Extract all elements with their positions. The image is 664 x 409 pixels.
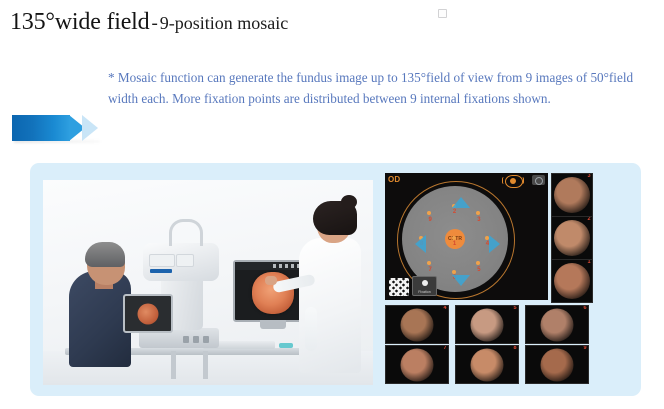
eye-label: OD xyxy=(388,175,400,184)
fixation-point-label-9: 9 xyxy=(429,217,432,223)
fixation-arrow-down[interactable] xyxy=(452,275,470,286)
fundus-thumbnail-image xyxy=(471,348,504,381)
eye-icon[interactable] xyxy=(502,175,524,186)
fundus-thumbnail-image xyxy=(401,348,434,381)
fixation-point-1[interactable] xyxy=(452,236,456,240)
photo-doctor-coat xyxy=(299,238,361,373)
photo-doctor-hand xyxy=(265,276,277,285)
dot-grid-icon[interactable] xyxy=(389,278,409,296)
arrow-body xyxy=(12,115,70,141)
thumbnail-grid-6[interactable]: 6 xyxy=(525,305,589,344)
photo-device-button-3 xyxy=(203,336,209,343)
arrow-head-light xyxy=(82,115,98,141)
thumbnail-grid-5[interactable]: 5 xyxy=(455,305,519,344)
fundus-thumbnail-image xyxy=(471,308,504,341)
fixation-button-dot xyxy=(422,280,428,286)
blue-arrow-graphic xyxy=(12,115,102,141)
photo-device-panel-a xyxy=(149,254,175,267)
fundus-thumbnail-number: 5 xyxy=(513,306,516,312)
fixation-point-3[interactable] xyxy=(476,211,480,215)
fixation-button[interactable]: Fixation xyxy=(412,276,437,296)
page-title-main: 135°wide field xyxy=(10,9,149,35)
fundus-thumbnail-number: 7 xyxy=(443,346,446,352)
top-artifact-mark xyxy=(438,9,447,18)
fixation-button-label: Fixation xyxy=(413,290,436,294)
thumbnail-grid-9[interactable]: 9 xyxy=(525,345,589,384)
fixation-point-label-7: 7 xyxy=(429,267,432,273)
thumbnail-right-1[interactable]: 1 xyxy=(551,259,593,303)
fundus-thumbnail-image xyxy=(554,263,590,299)
photo-device-arm xyxy=(169,219,203,246)
fundus-thumbnail-number: 4 xyxy=(443,306,446,312)
photo-device-panel-b xyxy=(176,254,194,267)
fundus-thumbnail-number: 1 xyxy=(587,260,590,266)
fixation-map-panel[interactable]: OD CNTR 123456789 Fixation xyxy=(385,173,548,300)
thumbnail-grid: 456789 xyxy=(385,305,611,383)
clinic-photo xyxy=(43,180,373,385)
fundus-thumbnail-image xyxy=(554,177,590,213)
fundus-thumbnail-image xyxy=(401,308,434,341)
fixation-point-6[interactable] xyxy=(452,270,456,274)
fixation-point-label-3: 3 xyxy=(477,217,480,223)
eye-icon-iris xyxy=(510,178,516,184)
photo-device-touchscreen xyxy=(123,294,173,333)
device-ui-block: OD CNTR 123456789 Fixation 321 xyxy=(385,173,610,307)
photo-device-button-1 xyxy=(183,336,189,343)
fixation-point-7[interactable] xyxy=(427,261,431,265)
fundus-thumbnail-image xyxy=(541,348,574,381)
fundus-thumbnail-number: 8 xyxy=(513,346,516,352)
photo-touchscreen-fundus xyxy=(138,303,159,324)
settings-icon[interactable] xyxy=(532,175,545,185)
photo-teal-item xyxy=(279,343,293,348)
fixation-point-label-1: 1 xyxy=(453,241,456,247)
description-text: * Mosaic function can generate the fundu… xyxy=(108,67,660,109)
fundus-thumbnail-number: 3 xyxy=(587,174,590,180)
fixation-point-label-5: 5 xyxy=(477,267,480,273)
fixation-arrow-left[interactable] xyxy=(415,235,426,253)
eye-icon-bracket-right xyxy=(520,177,524,184)
fixation-arrow-up[interactable] xyxy=(452,197,470,208)
thumbnail-grid-7[interactable]: 7 xyxy=(385,345,449,384)
photo-device-brand-mark xyxy=(150,269,172,273)
fundus-thumbnail-image xyxy=(554,220,590,256)
thumbnail-right-2[interactable]: 2 xyxy=(551,216,593,260)
fixation-arrow-right[interactable] xyxy=(489,235,500,253)
fixation-point-label-2: 2 xyxy=(453,209,456,215)
fixation-point-9[interactable] xyxy=(427,211,431,215)
page-title-dash: - xyxy=(149,13,159,34)
photo-monitor-stand xyxy=(260,320,286,329)
photo-device-button-2 xyxy=(193,336,199,343)
page-title-subtitle: 9-position mosaic xyxy=(160,13,289,33)
photo-patient-hair xyxy=(85,242,125,267)
thumbnail-grid-4[interactable]: 4 xyxy=(385,305,449,344)
photo-doctor-arm-lower xyxy=(305,307,317,351)
fundus-thumbnail-image xyxy=(541,308,574,341)
page-title: 135°wide field-9-position mosaic xyxy=(10,10,288,35)
photo-table-leg-right xyxy=(203,351,208,379)
thumbnail-right-3[interactable]: 3 xyxy=(551,173,593,217)
fundus-thumbnail-number: 2 xyxy=(587,217,590,223)
fixation-point-5[interactable] xyxy=(476,261,480,265)
fundus-thumbnail-number: 9 xyxy=(583,346,586,352)
photo-doctor-hair-bun xyxy=(341,195,357,209)
photo-table-leg-left xyxy=(171,351,176,379)
fundus-thumbnail-number: 6 xyxy=(583,306,586,312)
thumbnail-grid-8[interactable]: 8 xyxy=(455,345,519,384)
thumbnail-column-right: 321 xyxy=(551,173,591,300)
